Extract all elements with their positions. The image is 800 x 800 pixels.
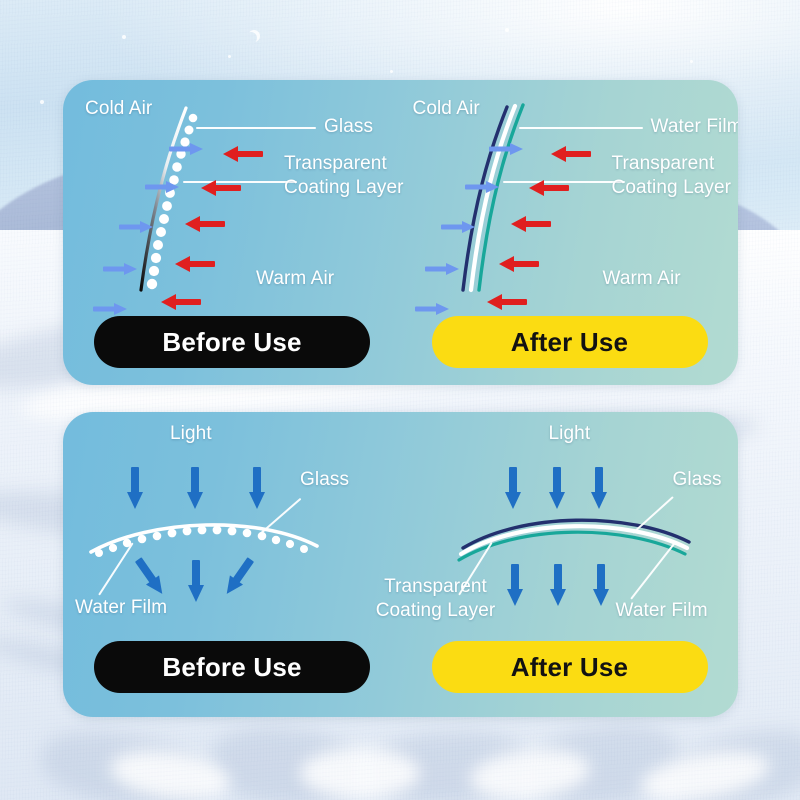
warm-air-arrow <box>223 146 263 162</box>
warm-air-arrow <box>185 216 225 232</box>
label-water-film: Water Film <box>651 116 739 138</box>
sparkle-dot <box>122 35 126 39</box>
panel-anti-fog-after: Cold Air Warm Air Water Film Transparent… <box>401 80 739 385</box>
cold-air-arrow <box>425 262 459 275</box>
cold-air-arrow <box>465 180 499 193</box>
cold-air-arrow <box>169 142 203 155</box>
sparkle-dot <box>390 70 393 73</box>
label-coating-line2: Coating Layer <box>284 177 404 198</box>
label-coating-line2: Coating Layer <box>612 177 732 198</box>
leader-line-water-film <box>519 127 643 129</box>
scattered-light-arrow <box>188 560 204 602</box>
transmitted-light-arrow <box>550 564 566 606</box>
cold-air-arrow <box>415 302 449 315</box>
warm-air-arrow <box>529 180 569 196</box>
panel-light-after: Light Glass Water Film Transparent Coati… <box>401 412 739 717</box>
sparkle-dot <box>228 55 231 58</box>
before-use-button[interactable]: Before Use <box>94 641 370 693</box>
warm-air-arrow <box>499 256 539 272</box>
warm-air-arrow <box>161 294 201 310</box>
after-use-button[interactable]: After Use <box>432 316 708 368</box>
warm-air-arrow <box>201 180 241 196</box>
before-use-button[interactable]: Before Use <box>94 316 370 368</box>
warm-air-arrow <box>487 294 527 310</box>
cold-air-arrow <box>145 180 179 193</box>
sparkle-dot <box>505 28 509 32</box>
sparkle-dot <box>690 60 693 63</box>
coated-glass-arcs <box>401 412 739 672</box>
warm-air-arrow <box>511 216 551 232</box>
glass-arc-fogged <box>63 412 403 672</box>
sparkle-crescent <box>248 30 260 42</box>
cold-air-arrow <box>119 220 153 233</box>
cold-air-arrow <box>93 302 127 315</box>
label-coating-line1: Transparent <box>284 153 387 174</box>
panel-anti-fog-before: Cold Air Warm Air <box>63 80 401 385</box>
label-transparent-coating-layer: Transparent Coating Layer <box>612 152 738 201</box>
cold-air-arrow <box>103 262 137 275</box>
warm-air-arrow <box>175 256 215 272</box>
warm-air-arrow <box>551 146 591 162</box>
sparkle-dot <box>40 100 44 104</box>
transmitted-light-arrow <box>593 564 609 606</box>
label-glass: Glass <box>324 116 373 138</box>
cold-air-arrow <box>489 142 523 155</box>
panel-light-transmission: Light Glass Water Film <box>63 412 738 717</box>
panel-light-before: Light Glass Water Film <box>63 412 401 717</box>
after-use-button[interactable]: After Use <box>432 641 708 693</box>
cold-air-arrow <box>441 220 475 233</box>
label-transparent-coating-layer: Transparent Coating Layer <box>284 152 404 201</box>
transmitted-light-arrow <box>507 564 523 606</box>
panel-anti-fog: Cold Air Warm Air <box>63 80 738 385</box>
leader-line-glass <box>196 127 316 129</box>
label-coating-line1: Transparent <box>612 153 715 174</box>
